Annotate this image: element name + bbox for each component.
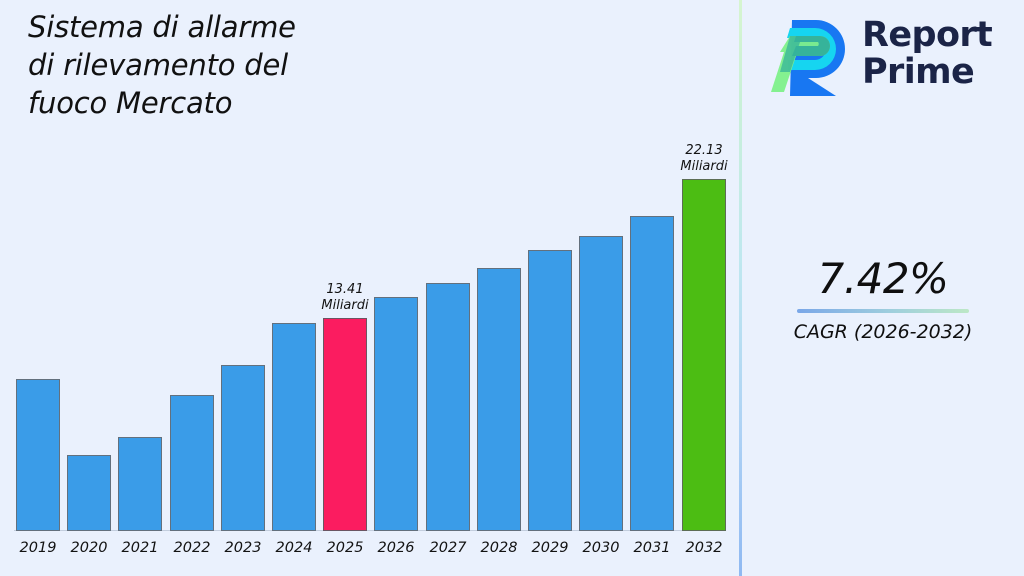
bar-rect — [118, 437, 162, 531]
bar-value-label-2025: 13.41 Miliardi — [321, 282, 368, 314]
bar-rect — [16, 379, 60, 531]
bar-rect — [630, 216, 674, 531]
infographic-page: Sistema di allarme di rilevamento del fu… — [0, 0, 1024, 576]
bar-value-label-2032: 22.13 Miliardi — [680, 143, 727, 175]
bar-2020 — [67, 455, 111, 531]
bar-rect — [221, 365, 265, 531]
bar-2032: 22.13 Miliardi — [682, 179, 726, 531]
x-axis-tick-2027: 2027 — [422, 540, 474, 556]
brand-logo: Report Prime — [768, 12, 992, 96]
bar-rect — [272, 323, 316, 531]
bar-2030 — [579, 236, 623, 531]
x-axis-tick-2032: 2032 — [678, 540, 730, 556]
bar-rect — [528, 250, 572, 531]
bar-2019 — [16, 379, 60, 531]
bar-2023 — [221, 365, 265, 531]
bar-2027 — [426, 283, 470, 531]
bar-rect — [67, 455, 111, 531]
bar-2025: 13.41 Miliardi — [323, 318, 367, 531]
bar-2028 — [477, 268, 521, 531]
x-axis-tick-2019: 2019 — [12, 540, 64, 556]
bar-chart: 20192020202120222023202413.41 Miliardi20… — [0, 0, 740, 576]
cagr-divider — [797, 309, 969, 313]
x-axis-tick-2029: 2029 — [524, 540, 576, 556]
bar-rect — [374, 297, 418, 531]
chart-panel: Sistema di allarme di rilevamento del fu… — [0, 0, 740, 576]
x-axis-tick-2024: 2024 — [268, 540, 320, 556]
cagr-caption: CAGR (2026-2032) — [742, 320, 1024, 344]
brand-name: Report Prime — [862, 17, 992, 91]
x-axis-tick-2023: 2023 — [217, 540, 269, 556]
brand-panel: Report Prime 7.42% CAGR (2026-2032) — [742, 0, 1024, 576]
x-axis-tick-2030: 2030 — [575, 540, 627, 556]
bar-2029 — [528, 250, 572, 531]
x-axis-tick-2031: 2031 — [626, 540, 678, 556]
cagr-block: 7.42% CAGR (2026-2032) — [742, 255, 1024, 344]
bar-rect — [426, 283, 470, 531]
bar-rect — [579, 236, 623, 531]
x-axis-tick-2026: 2026 — [370, 540, 422, 556]
bar-2024 — [272, 323, 316, 531]
bar-rect — [682, 179, 726, 531]
x-axis-tick-2028: 2028 — [473, 540, 525, 556]
report-prime-logo-icon — [768, 12, 850, 96]
x-axis-tick-2022: 2022 — [166, 540, 218, 556]
bar-rect — [170, 395, 214, 531]
x-axis-tick-2020: 2020 — [63, 540, 115, 556]
x-axis-tick-2021: 2021 — [114, 540, 166, 556]
bar-2022 — [170, 395, 214, 531]
bar-rect — [323, 318, 367, 531]
bar-2021 — [118, 437, 162, 531]
bar-2031 — [630, 216, 674, 531]
x-axis-tick-2025: 2025 — [319, 540, 371, 556]
cagr-value: 7.42% — [742, 255, 1024, 303]
bar-rect — [477, 268, 521, 531]
bar-2026 — [374, 297, 418, 531]
